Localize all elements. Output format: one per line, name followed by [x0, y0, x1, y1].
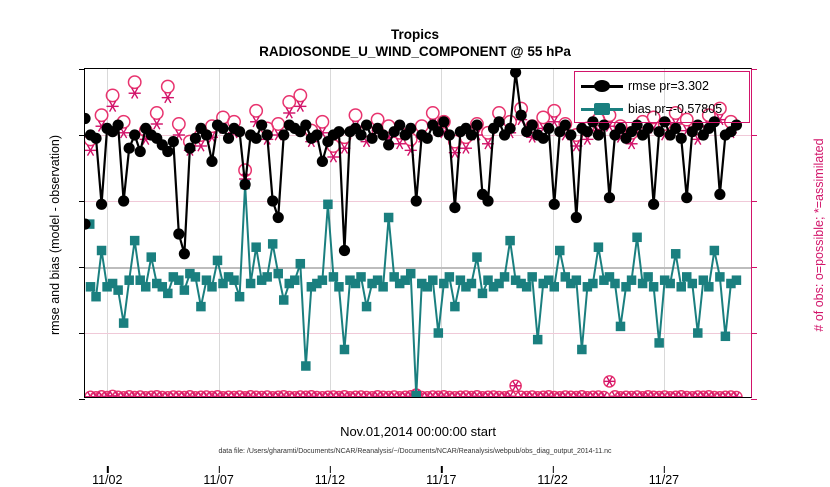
y-axis-label-right: # of obs: o=possible; *=assimilated: [812, 70, 826, 400]
x-tick-label: 11/07: [203, 473, 233, 487]
y-tick-mark-right: [751, 69, 757, 70]
legend-swatch-bias: [581, 102, 623, 116]
y-tick-mark-right: [751, 135, 757, 136]
y-tick-mark-left: [79, 333, 85, 334]
legend-swatch-rmse: [581, 79, 623, 93]
legend-item-bias[interactable]: bias pr=-0.57805: [581, 97, 722, 121]
legend-label-rmse: rmse pr=3.302: [628, 79, 709, 93]
y-tick-mark-left: [79, 201, 85, 202]
page-title: Tropics: [0, 26, 830, 43]
y-tick-mark-right: [751, 267, 757, 268]
y-tick-mark-left: [79, 399, 85, 400]
y-axis-label-left: rmse and bias (model - observation): [48, 70, 62, 400]
plot-area[interactable]: 6420-2-415001200900600300011/0211/0711/1…: [84, 68, 752, 398]
chart-title-block: Tropics RADIOSONDE_U_WIND_COMPONENT @ 55…: [0, 26, 830, 61]
x-axis-label: Nov.01,2014 00:00:00 start: [84, 424, 752, 439]
x-tick-label: 11/22: [537, 473, 567, 487]
data-file-footer: data file: /Users/gharamti/Documents/NCA…: [0, 448, 830, 455]
y-tick-mark-left: [79, 267, 85, 268]
x-tick-label: 11/17: [426, 473, 456, 487]
y-tick-mark-left: [79, 69, 85, 70]
chart-subtitle: RADIOSONDE_U_WIND_COMPONENT @ 55 hPa: [0, 43, 830, 61]
y-tick-mark-right: [751, 399, 757, 400]
legend-label-bias: bias pr=-0.57805: [628, 102, 722, 116]
x-tick-label: 11/02: [92, 473, 122, 487]
chart-page: Tropics RADIOSONDE_U_WIND_COMPONENT @ 55…: [0, 0, 830, 470]
y-tick-mark-right: [751, 333, 757, 334]
legend-item-rmse[interactable]: rmse pr=3.302: [581, 74, 709, 98]
x-tick-label: 11/12: [315, 473, 345, 487]
y-tick-mark-right: [751, 201, 757, 202]
chart-legend[interactable]: rmse pr=3.302 bias pr=-0.57805: [574, 71, 750, 123]
x-tick-label: 11/27: [649, 473, 679, 487]
y-tick-mark-left: [79, 135, 85, 136]
